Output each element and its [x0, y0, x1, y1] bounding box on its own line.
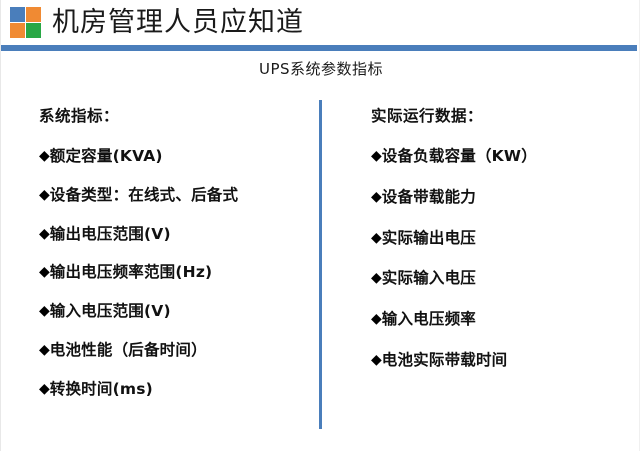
diamond-bullet-icon: ◆ [39, 226, 50, 242]
list-item: ◆ 转换时间(ms) [39, 381, 309, 399]
list-item: ◆ 电池实际带载时间 [371, 352, 633, 370]
logo-quadrant-top-right [26, 7, 41, 22]
list-item-label: 设备带载能力 [382, 189, 476, 207]
diamond-bullet-icon: ◆ [39, 187, 50, 203]
list-item: ◆ 输入电压范围(V) [39, 303, 309, 321]
list-item: ◆ 输出电压范围(V) [39, 226, 309, 244]
list-item: ◆ 实际输出电压 [371, 230, 633, 248]
list-item: ◆ 输入电压频率 [371, 311, 633, 329]
diamond-bullet-icon: ◆ [371, 189, 382, 205]
list-item-label: 输入电压频率 [382, 311, 476, 329]
list-item-label: 转换时间(ms) [50, 381, 153, 399]
slide-subtitle: UPS系统参数指标 [1, 58, 640, 79]
list-item-label: 实际输入电压 [382, 270, 476, 288]
right-column: 实际运行数据： ◆ 设备负载容量（KW） ◆ 设备带载能力 ◆ 实际输出电压 ◆… [371, 104, 633, 393]
list-item-label: 设备负载容量（KW） [382, 148, 537, 166]
right-column-heading: 实际运行数据： [371, 104, 633, 126]
list-item-label: 额定容量(KVA) [50, 148, 163, 166]
list-item-label: 输出电压频率范围(Hz) [50, 264, 213, 282]
diamond-bullet-icon: ◆ [39, 381, 50, 397]
right-column-list: ◆ 设备负载容量（KW） ◆ 设备带载能力 ◆ 实际输出电压 ◆ 实际输入电压 … [371, 148, 633, 370]
logo-quadrant-top-left [10, 7, 25, 22]
diamond-bullet-icon: ◆ [371, 270, 382, 286]
list-item-label: 设备类型：在线式、后备式 [50, 187, 238, 205]
diamond-bullet-icon: ◆ [371, 230, 382, 246]
list-item: ◆ 输出电压频率范围(Hz) [39, 264, 309, 282]
column-divider-rule [319, 100, 322, 429]
diamond-bullet-icon: ◆ [39, 303, 50, 319]
diamond-bullet-icon: ◆ [39, 342, 50, 358]
diamond-bullet-icon: ◆ [371, 311, 382, 327]
logo-quadrant-bottom-right [26, 23, 41, 38]
list-item-label: 电池性能（后备时间） [50, 342, 207, 360]
list-item: ◆ 电池性能（后备时间） [39, 342, 309, 360]
list-item-label: 电池实际带载时间 [382, 352, 508, 370]
slide-header: 机房管理人员应知道 [1, 0, 640, 45]
page-title: 机房管理人员应知道 [52, 9, 304, 36]
list-item: ◆ 设备负载容量（KW） [371, 148, 633, 166]
slide-canvas: 机房管理人员应知道 UPS系统参数指标 系统指标： ◆ 额定容量(KVA) ◆ … [0, 0, 640, 451]
brand-logo-icon [10, 7, 41, 38]
logo-quadrant-bottom-left [10, 23, 25, 38]
list-item: ◆ 额定容量(KVA) [39, 148, 309, 166]
diamond-bullet-icon: ◆ [39, 148, 50, 164]
list-item-label: 实际输出电压 [382, 230, 476, 248]
diamond-bullet-icon: ◆ [371, 352, 382, 368]
list-item-label: 输出电压范围(V) [50, 226, 171, 244]
list-item: ◆ 实际输入电压 [371, 270, 633, 288]
diamond-bullet-icon: ◆ [371, 148, 382, 164]
header-divider-rule [1, 45, 637, 51]
left-column-list: ◆ 额定容量(KVA) ◆ 设备类型：在线式、后备式 ◆ 输出电压范围(V) ◆… [39, 148, 309, 399]
diamond-bullet-icon: ◆ [39, 264, 50, 280]
list-item-label: 输入电压范围(V) [50, 303, 171, 321]
list-item: ◆ 设备类型：在线式、后备式 [39, 187, 309, 205]
left-column-heading: 系统指标： [39, 104, 309, 126]
list-item: ◆ 设备带载能力 [371, 189, 633, 207]
left-column: 系统指标： ◆ 额定容量(KVA) ◆ 设备类型：在线式、后备式 ◆ 输出电压范… [39, 104, 309, 420]
